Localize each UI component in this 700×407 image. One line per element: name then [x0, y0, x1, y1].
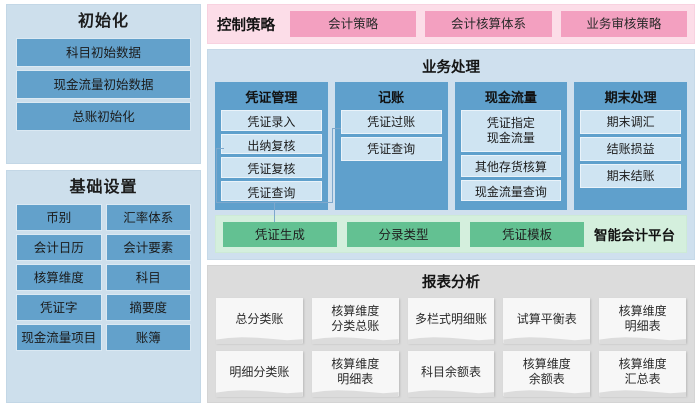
report-item[interactable]: 核算维度 明细表	[312, 351, 399, 396]
bookkeeping-item[interactable]: 凭证查询	[341, 137, 442, 161]
basic-settings-item[interactable]: 现金流量项目	[16, 324, 102, 351]
basic-settings-panel: 基础设置 币别 汇率体系 会计日历 会计要素 核算维度 科目 凭证字 摘要度 现…	[6, 170, 201, 403]
basic-settings-item[interactable]: 会计要素	[106, 234, 192, 261]
initialization-item[interactable]: 现金流量初始数据	[16, 70, 191, 99]
report-item[interactable]: 核算维度 余额表	[503, 351, 590, 396]
report-item[interactable]: 科目余额表	[408, 351, 495, 396]
cash-flow-title: 现金流量	[461, 87, 562, 106]
basic-settings-item[interactable]: 账簿	[106, 324, 192, 351]
report-item[interactable]: 总分类账	[216, 298, 303, 343]
business-processing-panel: 业务处理 凭证管理 凭证录入 出纳复核 凭证复核 凭证查询 记账 凭证过账 凭证…	[207, 49, 695, 260]
initialization-item-list: 科目初始数据 现金流量初始数据 总账初始化	[16, 38, 191, 134]
bookkeeping-column: 记账 凭证过账 凭证查询	[335, 82, 448, 210]
initialization-item[interactable]: 科目初始数据	[16, 38, 191, 67]
voucher-management-item[interactable]: 凭证查询	[221, 181, 322, 202]
basic-settings-item[interactable]: 币别	[16, 204, 102, 231]
cash-flow-column: 现金流量 凭证指定 现金流量 其他存货核算 现金流量查询	[455, 82, 568, 210]
connector-line-down	[274, 202, 275, 222]
report-item[interactable]: 核算维度 汇总表	[599, 351, 686, 396]
platform-item-voucher-generation[interactable]: 凭证生成	[223, 222, 337, 247]
report-item[interactable]: 核算维度 分类总账	[312, 298, 399, 343]
connector-line	[332, 128, 333, 203]
voucher-management-column: 凭证管理 凭证录入 出纳复核 凭证复核 凭证查询	[215, 82, 328, 210]
period-end-item[interactable]: 期末调汇	[580, 110, 681, 134]
right-column: 控制策略 会计策略 会计核算体系 业务审核策略 业务处理 凭证管理 凭证录入 出…	[205, 0, 700, 407]
business-processing-columns: 凭证管理 凭证录入 出纳复核 凭证复核 凭证查询 记账 凭证过账 凭证查询 现金…	[215, 82, 687, 210]
platform-item-voucher-template[interactable]: 凭证模板	[470, 222, 584, 247]
initialization-item[interactable]: 总账初始化	[16, 102, 191, 131]
initialization-title: 初始化	[16, 12, 191, 30]
control-strategy-item[interactable]: 会计策略	[290, 11, 416, 37]
connector-line	[332, 128, 341, 129]
cash-flow-item[interactable]: 凭证指定 现金流量	[461, 110, 562, 152]
basic-settings-title: 基础设置	[16, 178, 191, 196]
smart-accounting-platform-title: 智能会计平台	[594, 224, 679, 244]
cash-flow-item[interactable]: 其他存货核算	[461, 155, 562, 176]
platform-item-entry-type[interactable]: 分录类型	[347, 222, 461, 247]
report-item[interactable]: 核算维度 明细表	[599, 298, 686, 343]
connector-line	[216, 148, 224, 149]
control-strategy-item[interactable]: 业务审核策略	[561, 11, 687, 37]
control-strategy-bar: 控制策略 会计策略 会计核算体系 业务审核策略	[207, 4, 695, 44]
business-processing-title: 业务处理	[215, 56, 687, 77]
connector-line	[216, 148, 217, 203]
bookkeeping-title: 记账	[341, 87, 442, 106]
cash-flow-item[interactable]: 现金流量查询	[461, 180, 562, 201]
report-item[interactable]: 试算平衡表	[503, 298, 590, 343]
basic-settings-item[interactable]: 会计日历	[16, 234, 102, 261]
voucher-management-item[interactable]: 出纳复核	[221, 134, 322, 155]
basic-settings-item[interactable]: 凭证字	[16, 294, 102, 321]
bookkeeping-item[interactable]: 凭证过账	[341, 110, 442, 134]
basic-settings-item[interactable]: 汇率体系	[106, 204, 192, 231]
basic-settings-item[interactable]: 科目	[106, 264, 192, 291]
period-end-item[interactable]: 期末结账	[580, 164, 681, 188]
report-analysis-panel: 报表分析 总分类账 核算维度 分类总账 多栏式明细账 试算平衡表 核算维度 明细…	[207, 265, 695, 403]
report-analysis-title: 报表分析	[216, 271, 686, 292]
basic-settings-item[interactable]: 核算维度	[16, 264, 102, 291]
report-item[interactable]: 多栏式明细账	[408, 298, 495, 343]
voucher-management-item[interactable]: 凭证录入	[221, 110, 322, 131]
control-strategy-item[interactable]: 会计核算体系	[425, 11, 551, 37]
basic-settings-grid: 币别 汇率体系 会计日历 会计要素 核算维度 科目 凭证字 摘要度 现金流量项目…	[16, 204, 191, 351]
initialization-panel: 初始化 科目初始数据 现金流量初始数据 总账初始化	[6, 4, 201, 164]
accounting-module-diagram: 初始化 科目初始数据 现金流量初始数据 总账初始化 基础设置 币别 汇率体系 会…	[0, 0, 700, 407]
smart-accounting-platform-bar: 凭证生成 分录类型 凭证模板 智能会计平台	[215, 215, 687, 253]
left-column: 初始化 科目初始数据 现金流量初始数据 总账初始化 基础设置 币别 汇率体系 会…	[0, 0, 205, 407]
period-end-item[interactable]: 结账损益	[580, 137, 681, 161]
voucher-management-title: 凭证管理	[221, 87, 322, 106]
basic-settings-item[interactable]: 摘要度	[106, 294, 192, 321]
report-analysis-grid: 总分类账 核算维度 分类总账 多栏式明细账 试算平衡表 核算维度 明细表 明细分…	[216, 298, 686, 396]
control-strategy-title: 控制策略	[215, 14, 281, 35]
voucher-management-item[interactable]: 凭证复核	[221, 157, 322, 178]
period-end-title: 期末处理	[580, 87, 681, 106]
period-end-column: 期末处理 期末调汇 结账损益 期末结账	[574, 82, 687, 210]
report-item[interactable]: 明细分类账	[216, 351, 303, 396]
